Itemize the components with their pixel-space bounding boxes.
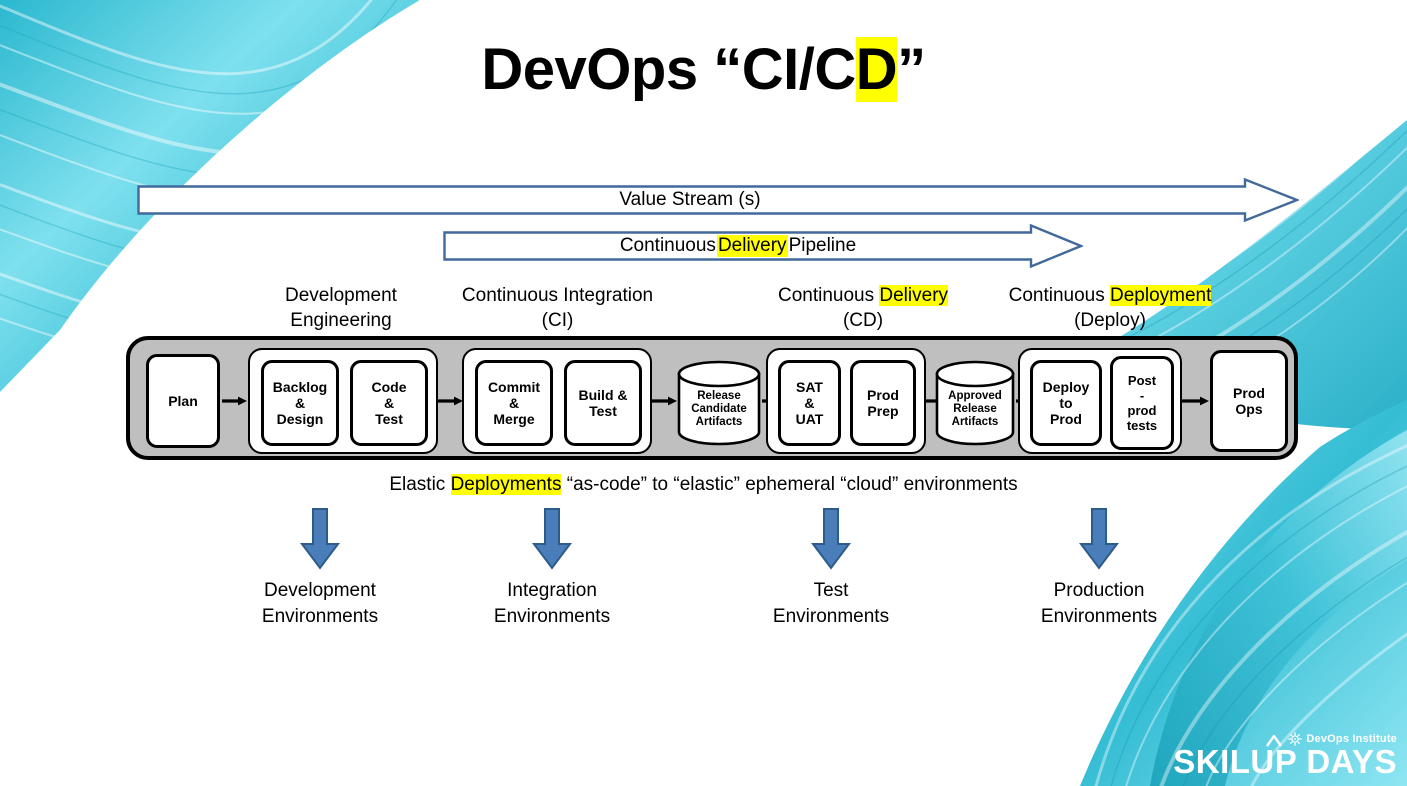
column-header-line2: (Deploy) bbox=[985, 308, 1235, 333]
pipeline-node-prod-prep[interactable]: ProdPrep bbox=[850, 360, 916, 446]
caption-highlight: Deployments bbox=[451, 474, 562, 495]
pipeline-node-label: ProdPrep bbox=[867, 387, 899, 419]
env-label-line2: Environments bbox=[442, 604, 662, 630]
column-header-line2: Engineering bbox=[225, 308, 457, 333]
column-header-text: Development bbox=[285, 285, 397, 306]
pipeline-node-commit-merge[interactable]: Commit&Merge bbox=[475, 360, 553, 446]
pipeline-node-release-candidate-artifacts[interactable]: ReleaseCandidateArtifacts bbox=[676, 360, 762, 446]
cd-pipeline-highlight: Delivery bbox=[717, 235, 788, 257]
column-header-continuous-delivery: Continuous Delivery (CD) bbox=[747, 283, 979, 333]
skilup-days-logo: DevOps Institute SKILUP DAYS bbox=[1173, 732, 1397, 780]
caption-pre: Elastic bbox=[389, 474, 450, 495]
pipeline-node-sat-uat[interactable]: SAT&UAT bbox=[778, 360, 841, 446]
column-header-line2: (CD) bbox=[747, 308, 979, 333]
pipeline-node-label: SAT&UAT bbox=[796, 379, 824, 427]
pipeline-node-backlog-design[interactable]: Backlog&Design bbox=[261, 360, 339, 446]
env-label-line1: Development bbox=[210, 578, 430, 604]
pipeline-node-label: ReleaseCandidateArtifacts bbox=[676, 360, 762, 446]
pipeline-node-label: Commit&Merge bbox=[488, 379, 540, 427]
column-header-highlight: Delivery bbox=[879, 285, 948, 306]
cd-pipeline-label: Continuous Delivery Pipeline bbox=[443, 224, 1083, 268]
env-label-line1: Integration bbox=[442, 578, 662, 604]
connector-arrow bbox=[1182, 395, 1210, 407]
pipeline-node-label: ApprovedReleaseArtifacts bbox=[934, 360, 1016, 446]
value-stream-label: Value Stream (s) bbox=[137, 178, 1299, 222]
down-arrow-development bbox=[300, 508, 340, 570]
pipeline-node-deploy-to-prod[interactable]: DeploytoProd bbox=[1030, 360, 1102, 446]
column-header-continuous-integration: Continuous Integration (CI) bbox=[440, 283, 675, 333]
caption-post: “as-code” to “elastic” ephemeral “cloud”… bbox=[561, 474, 1017, 495]
env-label-development: Development Environments bbox=[210, 578, 430, 630]
column-header-text: Continuous bbox=[1009, 285, 1110, 306]
pipeline-node-post-prod-tests[interactable]: Post-prodtests bbox=[1110, 356, 1174, 450]
column-header-line2: (CI) bbox=[440, 308, 675, 333]
slide-title: DevOps “CI/CD” bbox=[0, 40, 1407, 101]
pipeline-node-label: Post-prodtests bbox=[1127, 373, 1157, 433]
pipeline-node-build-test[interactable]: Build &Test bbox=[564, 360, 642, 446]
column-header-line1: Continuous Delivery bbox=[747, 283, 979, 308]
title-post: ” bbox=[897, 37, 926, 102]
column-header-line1: Continuous Deployment bbox=[985, 283, 1235, 308]
cd-pipeline-post: Pipeline bbox=[788, 235, 858, 257]
caret-icon bbox=[1266, 735, 1282, 747]
connector-arrow bbox=[222, 395, 248, 407]
pipeline-node-label: ProdOps bbox=[1233, 385, 1265, 417]
env-label-line1: Test bbox=[721, 578, 941, 604]
value-stream-arrow: Value Stream (s) bbox=[137, 178, 1299, 222]
skilup-days-text: SKILUP DAYS bbox=[1173, 743, 1397, 780]
env-label-line1: Production bbox=[989, 578, 1209, 604]
value-stream-text: Value Stream (s) bbox=[618, 189, 761, 211]
down-arrow-production bbox=[1079, 508, 1119, 570]
column-header-line1: Continuous Integration bbox=[440, 283, 675, 308]
pipeline-node-label: Plan bbox=[168, 393, 198, 409]
column-header-continuous-deployment: Continuous Deployment (Deploy) bbox=[985, 283, 1235, 333]
env-label-line2: Environments bbox=[721, 604, 941, 630]
pipeline-group-continuous-deployment: DeploytoProd Post-prodtests bbox=[1018, 348, 1182, 454]
pipeline-node-approved-release-artifacts[interactable]: ApprovedReleaseArtifacts bbox=[934, 360, 1016, 446]
pipeline-node-prod-ops[interactable]: ProdOps bbox=[1210, 350, 1288, 452]
pipeline-node-label: Code&Test bbox=[372, 379, 407, 427]
env-label-production: Production Environments bbox=[989, 578, 1209, 630]
title-pre: DevOps “CI/C bbox=[481, 37, 855, 102]
pipeline-node-label: Backlog&Design bbox=[273, 379, 327, 427]
cd-pipeline-arrow: Continuous Delivery Pipeline bbox=[443, 224, 1083, 268]
column-header-highlight: Deployment bbox=[1110, 285, 1211, 306]
pipeline-node-plan[interactable]: Plan bbox=[146, 354, 220, 448]
pipeline-group-development: Backlog&Design Code&Test bbox=[248, 348, 438, 454]
connector-arrow bbox=[652, 395, 678, 407]
pipeline-caption: Elastic Deployments “as-code” to “elasti… bbox=[0, 474, 1407, 496]
connector-arrow bbox=[438, 395, 464, 407]
pipeline-group-continuous-integration: Commit&Merge Build &Test bbox=[462, 348, 652, 454]
title-highlight: D bbox=[856, 37, 897, 102]
column-header-text: Continuous Integration bbox=[462, 285, 653, 306]
pipeline-node-label: Build &Test bbox=[579, 387, 628, 419]
pipeline-node-code-test[interactable]: Code&Test bbox=[350, 360, 428, 446]
slide-canvas: DevOps “CI/CD” Value Stream (s) Continuo… bbox=[0, 0, 1407, 786]
column-header-text: Continuous bbox=[778, 285, 879, 306]
env-label-line2: Environments bbox=[210, 604, 430, 630]
env-label-integration: Integration Environments bbox=[442, 578, 662, 630]
pipeline-group-continuous-delivery: SAT&UAT ProdPrep bbox=[766, 348, 926, 454]
cd-pipeline-pre: Continuous bbox=[619, 235, 717, 257]
env-label-line2: Environments bbox=[989, 604, 1209, 630]
skilup-days-wordmark: SKILUP DAYS bbox=[1173, 744, 1397, 780]
pipeline-node-label: DeploytoProd bbox=[1043, 379, 1090, 427]
down-arrow-test bbox=[811, 508, 851, 570]
env-label-test: Test Environments bbox=[721, 578, 941, 630]
pipeline-bar: Plan Backlog&Design Code&Test Commit&Mer… bbox=[126, 336, 1298, 460]
column-header-development-engineering: Development Engineering bbox=[225, 283, 457, 333]
down-arrow-integration bbox=[532, 508, 572, 570]
column-header-line1: Development bbox=[225, 283, 457, 308]
